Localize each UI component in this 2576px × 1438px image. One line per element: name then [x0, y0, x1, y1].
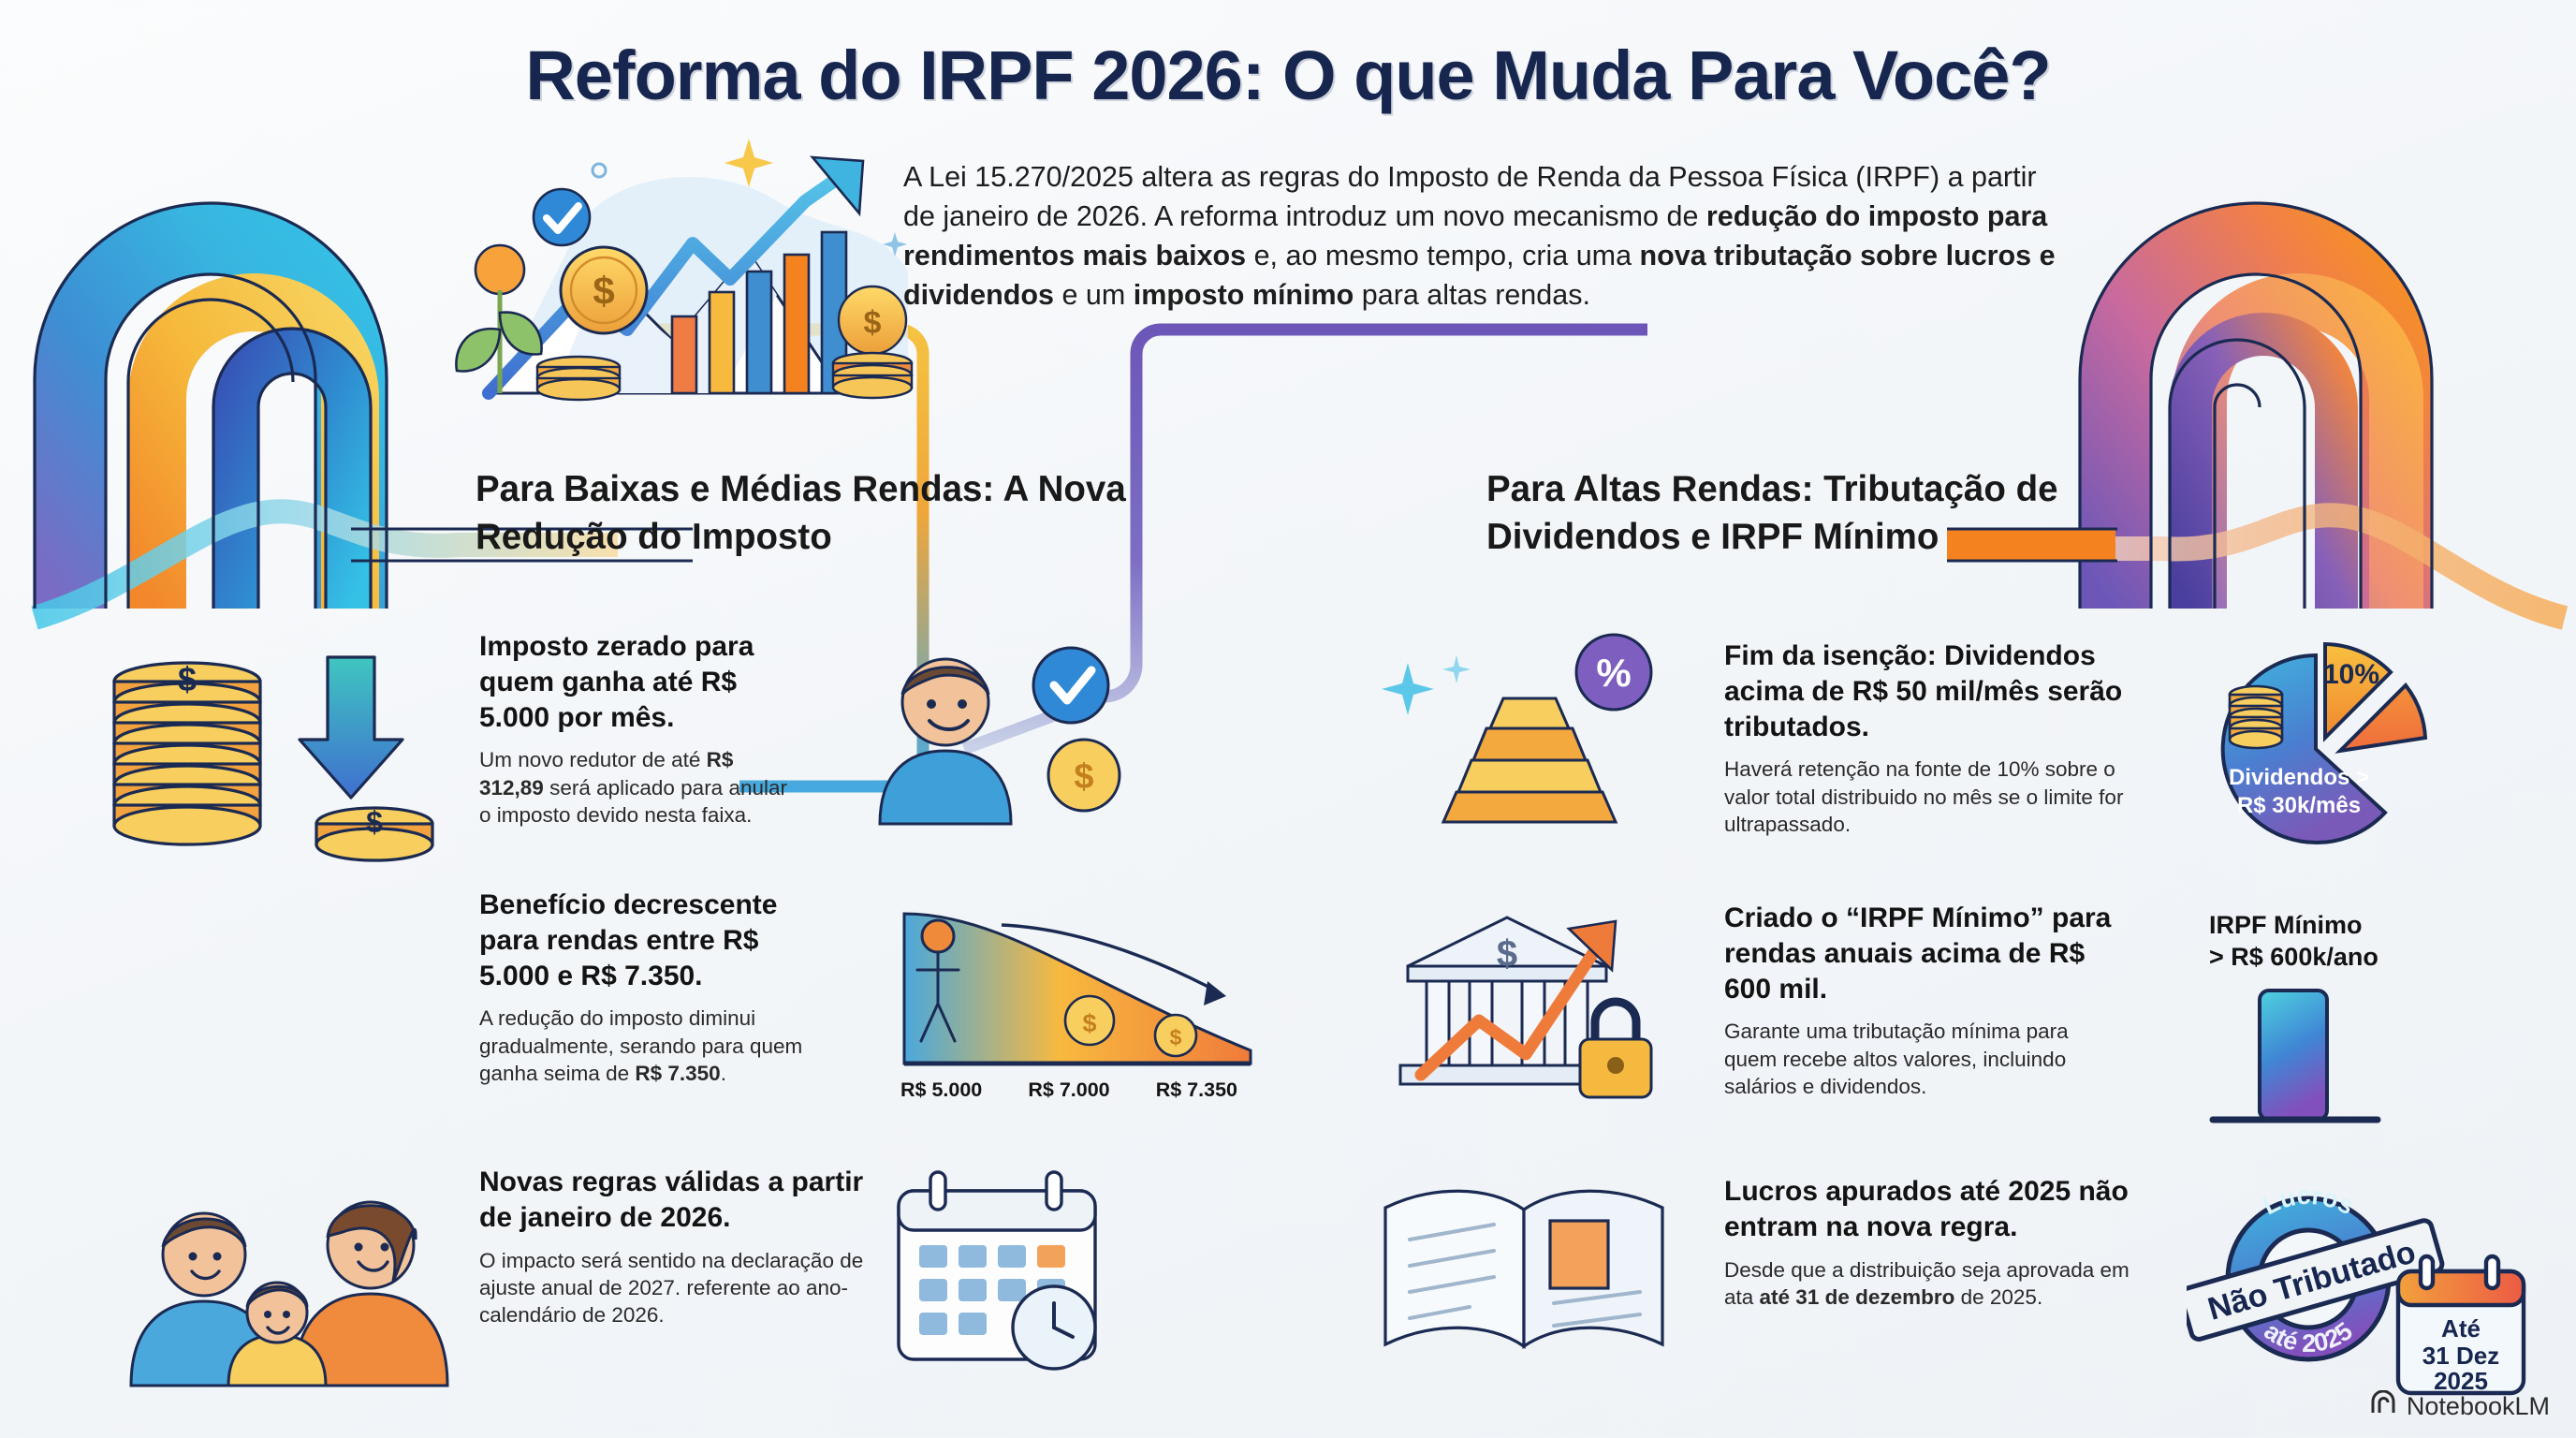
left-block-2-body-post: .: [721, 1062, 726, 1085]
right-block-3-body-bold: até 31 de dezembro: [1760, 1285, 1955, 1309]
irpf-minimo-label-line1: IRPF Mínimo: [2209, 910, 2490, 942]
left-block-1-body: Um novo redutor de até R$ 312,89 será ap…: [479, 746, 798, 829]
benefit-chart-axis-labels: R$ 5.000 R$ 7.000 R$ 7.350: [900, 1078, 1237, 1102]
intro-text-4: para altas rendas.: [1354, 279, 1590, 311]
intro-text-2: e, ao mesmo tempo, cria uma: [1246, 240, 1639, 271]
lucros-nao-tributado-seal: Lucros até 2025 Não Tributado Até 31 Dez…: [2187, 1157, 2561, 1410]
axis-tick-0: R$ 5.000: [900, 1078, 982, 1102]
left-block-3-body: O impacto será sentido na declaração de …: [479, 1247, 872, 1329]
calendar-line1: Até: [2441, 1314, 2481, 1343]
left-block-2-body: A redução do imposto diminui gradualment…: [479, 1005, 816, 1087]
intro-bold-3: imposto mínimo: [1134, 279, 1354, 311]
left-block-2-title: Benefício decrescente para rendas entre …: [479, 888, 816, 993]
family-icon: [94, 1114, 487, 1400]
svg-text:$: $: [1074, 757, 1093, 797]
axis-tick-2: R$ 7.350: [1156, 1078, 1237, 1102]
right-block-1-body: Haverá retenção na fonte de 10% sobre o …: [1724, 756, 2141, 838]
irpf-minimo-label-line2: > R$ 600k/ano: [2209, 942, 2490, 974]
left-column-heading: Para Baixas e Médias Rendas: A Nova Redu…: [476, 466, 1131, 562]
right-block-2-body: Garante uma tributação mínima para quem …: [1724, 1018, 2127, 1100]
notebooklm-watermark: NotebookLM: [2369, 1390, 2550, 1423]
calendar-clock-icon: [871, 1152, 1151, 1390]
dividends-pie-chart: 10% Dividendos > R$ 30k/mês: [2202, 629, 2445, 854]
bank-growth-lock-icon: $: [1367, 880, 1685, 1128]
left-block-1-body-pre: Um novo redutor de até: [479, 748, 707, 771]
svg-text:$: $: [593, 269, 614, 313]
right-block-3-body-post: de 2025.: [1954, 1285, 2042, 1309]
right-block-1-body-pre: Haverá retenção na fonte de 10% sobre o …: [1724, 757, 2123, 836]
left-block-1-title: Imposto zerado para quem ganha até R$ 5.…: [479, 629, 798, 735]
right-block-2-body-pre: Garante uma tributação mínima para quem …: [1724, 1020, 2069, 1098]
right-block-3-title: Lucros apurados até 2025 não entram na n…: [1724, 1174, 2145, 1245]
left-block-2: Benefício decrescente para rendas entre …: [479, 888, 816, 1087]
svg-text:$: $: [1497, 933, 1517, 975]
intro-paragraph: A Lei 15.270/2025 altera as regras do Im…: [903, 157, 2059, 315]
open-book-icon: [1367, 1152, 1685, 1390]
benefit-decline-chart: $ $: [889, 880, 1264, 1100]
svg-text:$: $: [864, 305, 882, 341]
pie-center-label-line2: R$ 30k/mês: [2237, 793, 2361, 818]
left-block-3-body-pre: O impacto será sentido na declaração de …: [479, 1249, 863, 1328]
svg-text:%: %: [1596, 651, 1631, 695]
left-block-2-body-bold: R$ 7.350: [635, 1062, 720, 1085]
intro-text-3: e um: [1054, 279, 1134, 311]
right-block-3-body: Desde que a distribuição seja aprovada e…: [1724, 1256, 2145, 1312]
notebooklm-logo-icon: [2369, 1390, 2397, 1423]
infographic-canvas: Reforma do IRPF 2026: O que Muda Para Vo…: [0, 0, 2576, 1438]
irpf-minimo-label: IRPF Mínimo > R$ 600k/ano: [2209, 910, 2490, 974]
left-block-1: Imposto zerado para quem ganha até R$ 5.…: [479, 629, 798, 829]
calendar-line2: 31 Dez: [2422, 1342, 2499, 1370]
axis-tick-1: R$ 7.000: [1028, 1078, 1109, 1102]
pie-slice-percent-label: 10%: [2323, 659, 2379, 690]
right-block-1-title: Fim da isenção: Dividendos acima de R$ 5…: [1724, 638, 2141, 744]
svg-text:$: $: [1170, 1025, 1182, 1049]
hero-growth-illustration: $ $: [440, 112, 936, 421]
right-block-3: Lucros apurados até 2025 não entram na n…: [1724, 1174, 2145, 1311]
notebooklm-label: NotebookLM: [2407, 1392, 2550, 1421]
right-block-1: Fim da isenção: Dividendos acima de R$ 5…: [1724, 638, 2141, 838]
left-block-3: Novas regras válidas a partir de janeiro…: [479, 1165, 872, 1328]
coins-decrease-icon: $ $: [94, 637, 487, 875]
right-block-2: Criado o “IRPF Mínimo” para rendas anuai…: [1724, 901, 2127, 1100]
happy-person-approval-icon: $: [842, 627, 1151, 838]
pie-center-label-line1: Dividendos >: [2229, 765, 2369, 790]
svg-text:$: $: [178, 660, 197, 698]
right-column-heading: Para Altas Rendas: Tributação de Dividen…: [1486, 466, 2160, 562]
page-title: Reforma do IRPF 2026: O que Muda Para Vo…: [0, 36, 2576, 115]
right-block-2-title: Criado o “IRPF Mínimo” para rendas anuai…: [1724, 901, 2127, 1006]
gold-bars-percent-icon: %: [1367, 618, 1685, 847]
left-block-3-title: Novas regras válidas a partir de janeiro…: [479, 1165, 872, 1236]
svg-text:$: $: [1082, 1009, 1096, 1037]
svg-text:$: $: [366, 805, 383, 839]
